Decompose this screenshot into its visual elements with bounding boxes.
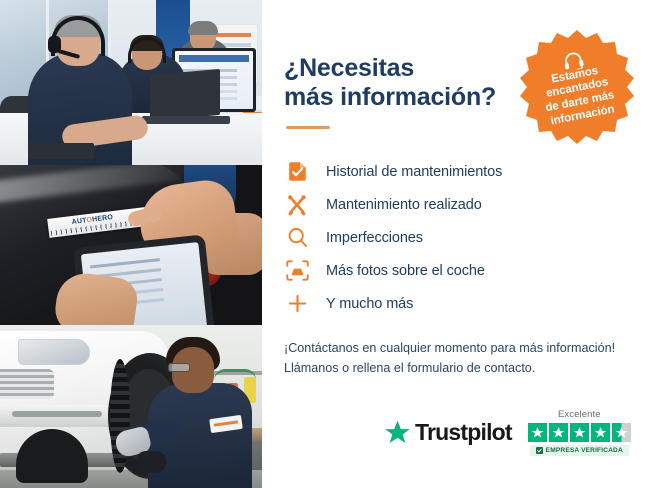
feature-label: Mantenimiento realizado: [326, 197, 482, 213]
laptop-keyboard: [142, 116, 230, 124]
trustpilot-rating[interactable]: Trustpilot Excelente: [384, 409, 631, 456]
page-title: ¿Necesitas más información?: [284, 54, 514, 112]
car-headlight: [18, 339, 90, 365]
contact-copy-line-1: ¡Contáctanos en cualquier momento para m…: [284, 338, 626, 358]
star-filled-1: [528, 423, 547, 442]
feature-item-much-more: Y mucho más: [284, 287, 626, 320]
mechanic-glove-lower: [136, 451, 166, 473]
safety-glasses-icon: [168, 363, 190, 372]
trustpilot-star-row: [528, 423, 631, 442]
star-filled-3: [570, 423, 589, 442]
star-filled-4: [591, 423, 610, 442]
trustpilot-score-block: Excelente: [528, 409, 631, 456]
crossed-tools-icon: [284, 192, 310, 218]
feature-item-maintenance-history: Historial de mantenimientos: [284, 155, 626, 188]
magnifier-icon: [284, 225, 310, 251]
call-center-agents-photo: [0, 0, 262, 165]
headline-line-2: más información?: [284, 83, 496, 111]
desk-tablet: [28, 143, 94, 159]
verified-company-badge: EMPRESA VERIFICADA: [530, 445, 629, 456]
headline-underline-rule: [286, 126, 330, 129]
trustpilot-rating-label: Excelente: [558, 409, 601, 420]
star-half-5: [612, 423, 631, 442]
starburst-shape: [518, 28, 636, 146]
feature-item-more-photos: Más fotos sobre el coche: [284, 254, 626, 287]
content-panel: ¿Necesitas más información? Estamos enca…: [262, 0, 650, 488]
brand-part-2: HERO: [92, 214, 114, 224]
star-filled-2: [549, 423, 568, 442]
car-viewfinder-icon: [284, 258, 310, 284]
laptop-screen: [150, 69, 220, 121]
feature-label: Más fotos sobre el coche: [326, 263, 485, 279]
support-badge: Estamos encantados de darte más informac…: [518, 28, 636, 146]
feature-item-imperfections: Imperfecciones: [284, 221, 626, 254]
feature-list: Historial de mantenimientos M: [284, 155, 626, 320]
clipboard-check-icon: [284, 159, 310, 185]
feature-label: Historial de mantenimientos: [326, 164, 502, 180]
information-banner: AUTOHERO: [0, 0, 650, 488]
contact-copy: ¡Contáctanos en cualquier momento para m…: [284, 338, 626, 379]
car-grille: [0, 369, 54, 399]
mechanic-wheel-inspection-photo: [0, 325, 262, 488]
verified-company-label: EMPRESA VERIFICADA: [546, 447, 623, 454]
feature-label: Y mucho más: [326, 296, 413, 312]
headline-line-1: ¿Necesitas: [284, 54, 414, 82]
photo-column: AUTOHERO: [0, 0, 262, 488]
feature-item-maintenance-performed: Mantenimiento realizado: [284, 188, 626, 221]
verified-check-icon: [536, 447, 543, 454]
brand-part-1: AUT: [71, 217, 87, 226]
trustpilot-wordmark: Trustpilot: [415, 419, 512, 446]
background-person-hair: [188, 21, 218, 35]
trustpilot-star-icon: [384, 420, 411, 446]
car-inspection-ruler-photo: AUTOHERO: [0, 165, 262, 325]
contact-copy-line-2: Llámanos o rellena el formulario de cont…: [284, 358, 626, 378]
trustpilot-brand[interactable]: Trustpilot: [384, 419, 512, 446]
feature-label: Imperfecciones: [326, 230, 423, 246]
plus-icon: [284, 291, 310, 317]
bumper-trim-strip: [12, 411, 102, 417]
